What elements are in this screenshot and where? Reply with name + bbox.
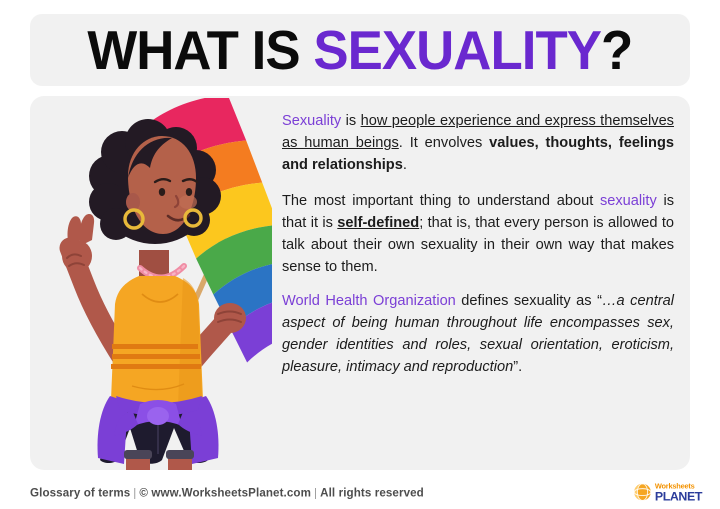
- title-card: WHAT IS SEXUALITY?: [30, 14, 690, 86]
- worksheets-planet-logo[interactable]: Worksheets PLANET: [633, 482, 702, 503]
- copyright-icon: ©: [139, 486, 148, 499]
- page-title-part1: WHAT IS: [88, 19, 314, 81]
- footer-rights-label: All rights reserved: [320, 486, 424, 499]
- logo-wordmark: Worksheets PLANET: [655, 482, 702, 503]
- paragraph-3: World Health Organization defines sexual…: [282, 291, 674, 379]
- footer-website-link[interactable]: www.WorksheetsPlanet.com: [151, 486, 311, 499]
- p1-text-b: . It envolves: [399, 135, 489, 151]
- paragraph-2: The most important thing to understand a…: [282, 190, 674, 279]
- content-card: Sexuality is how people experience and e…: [30, 96, 690, 470]
- page-title: WHAT IS SEXUALITY?: [88, 23, 633, 78]
- definition-text-column: Sexuality is how people experience and e…: [282, 110, 674, 462]
- p2-text-a: The most important thing to understand a…: [282, 193, 600, 209]
- footer-credits: Glossary of terms|© www.WorksheetsPlanet…: [30, 486, 424, 499]
- p3-text-a: defines sexuality as “: [456, 293, 602, 309]
- logo-top-word: Worksheets: [655, 482, 702, 489]
- p2-keyword-sexuality: sexuality: [600, 193, 657, 209]
- page-title-part2: ?: [601, 19, 632, 81]
- p3-who-reference: World Health Organization: [282, 293, 456, 309]
- worksheet-page: WHAT IS SEXUALITY?: [0, 0, 720, 509]
- globe-icon: [633, 483, 652, 502]
- p3-text-b: ”.: [513, 359, 522, 375]
- footer-glossary-label: Glossary of terms: [30, 486, 130, 499]
- logo-bottom-word: PLANET: [655, 491, 702, 503]
- p2-self-defined-emphasis: self-defined: [337, 215, 419, 231]
- p1-keyword-sexuality: Sexuality: [282, 113, 341, 129]
- orange-tank-top: [111, 276, 203, 408]
- person-with-pride-flag-illustration: [36, 98, 272, 470]
- p1-text-a: is: [341, 113, 360, 129]
- page-title-highlight: SEXUALITY: [313, 19, 601, 81]
- p1-text-c: .: [403, 157, 407, 173]
- footer-separator-2: |: [311, 486, 320, 499]
- footer-bar: Glossary of terms|© www.WorksheetsPlanet…: [0, 476, 720, 509]
- paragraph-1: Sexuality is how people experience and e…: [282, 110, 674, 177]
